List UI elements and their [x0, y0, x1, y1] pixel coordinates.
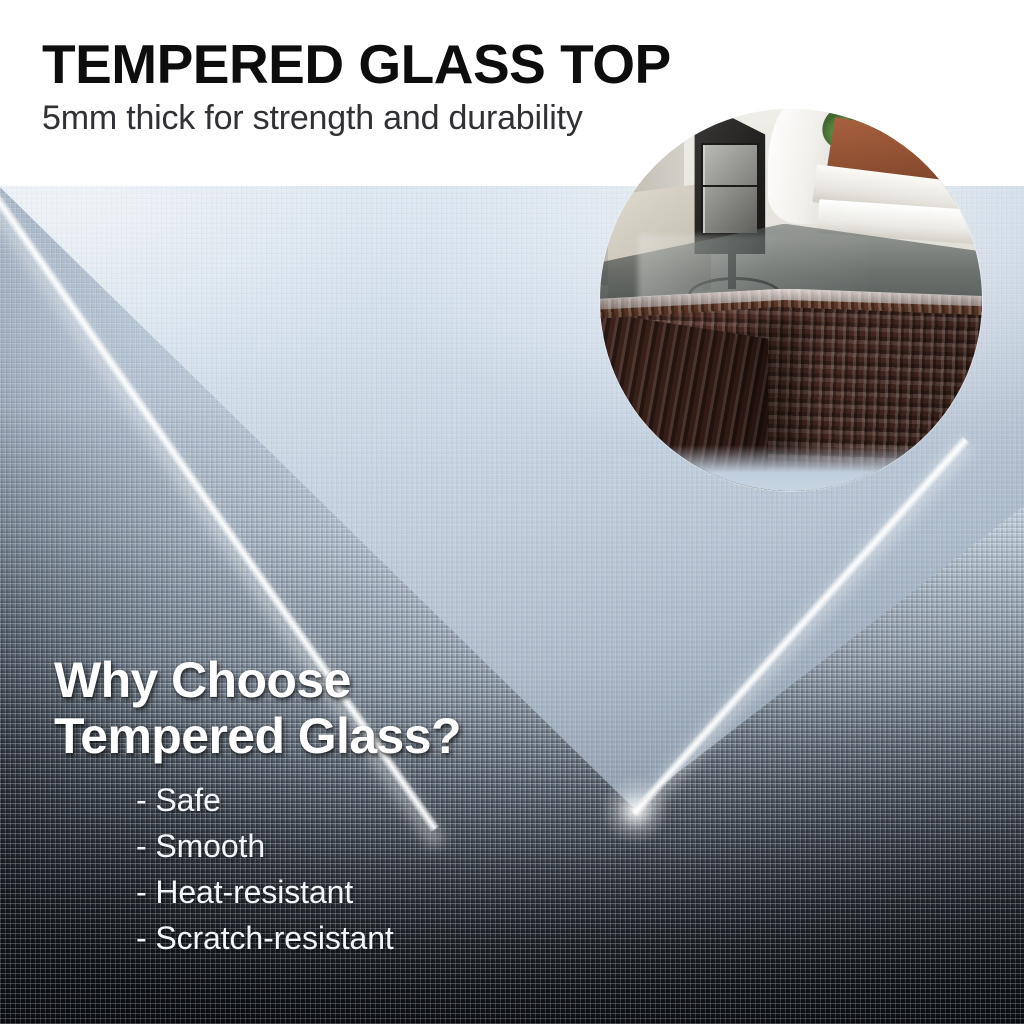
promo-heading: Why Choose Tempered Glass?	[54, 655, 461, 761]
benefit-item: - Heat-resistant	[136, 874, 394, 911]
infographic-canvas: TEMPERED GLASS TOP 5mm thick for strengt…	[0, 0, 1024, 1024]
page-subtitle: 5mm thick for strength and durability	[42, 99, 583, 138]
promo-heading-line-1: Why Choose	[54, 652, 351, 708]
benefit-item: - Safe	[136, 782, 394, 819]
page-title: TEMPERED GLASS TOP	[42, 36, 671, 94]
photo-lantern-glass	[701, 143, 758, 235]
photo-floor	[600, 445, 982, 491]
promo-heading-line-2: Tempered Glass?	[54, 711, 461, 761]
benefits-list: - Safe - Smooth - Heat-resistant - Scrat…	[136, 782, 394, 966]
photo-lantern-bar	[701, 185, 758, 187]
glass-corner-apex	[600, 775, 670, 845]
benefit-item: - Smooth	[136, 828, 394, 865]
benefit-item: - Scratch-resistant	[136, 920, 394, 957]
product-photo	[600, 109, 982, 491]
product-photo-circle	[600, 109, 982, 491]
